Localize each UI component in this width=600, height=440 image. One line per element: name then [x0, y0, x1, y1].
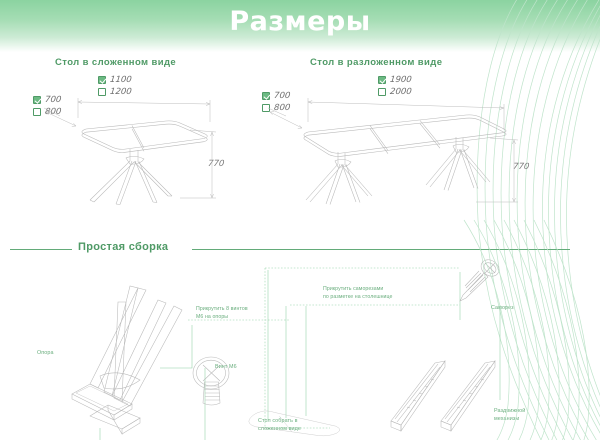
self-tapping-screw-label: Саморез — [491, 305, 514, 313]
page-header: Размеры — [0, 0, 600, 52]
note-screws-by-marking: Прикрутить саморезами по разметке на сто… — [323, 286, 393, 301]
folded-table-drawing — [20, 86, 240, 216]
option-row[interactable]: 1100 — [98, 74, 132, 85]
checkbox-checked-icon[interactable] — [98, 76, 106, 84]
page-root: Размеры Стол в сложенном виде 1100 — [0, 0, 600, 440]
screw-m6-label: Винт М6 — [215, 364, 237, 372]
support-leg-drawing — [60, 272, 200, 437]
option-value: 1100 — [109, 75, 132, 85]
self-tapping-screw-drawing — [457, 258, 503, 304]
unfolded-table-drawing — [252, 82, 542, 217]
support-label: Опора — [37, 350, 54, 358]
slide-mechanism-label: Раздвижной механизм — [494, 408, 525, 424]
note-screws-to-supports: Прикрутить 8 винтов М6 на опоры — [196, 306, 248, 321]
section-title-unfolded: Стол в разложенном виде — [310, 57, 442, 68]
section-title-folded: Стол в сложенном виде — [55, 57, 176, 68]
page-title: Размеры — [0, 6, 600, 37]
table-folded-label: Стол собрать в сложенном виде — [258, 418, 301, 434]
